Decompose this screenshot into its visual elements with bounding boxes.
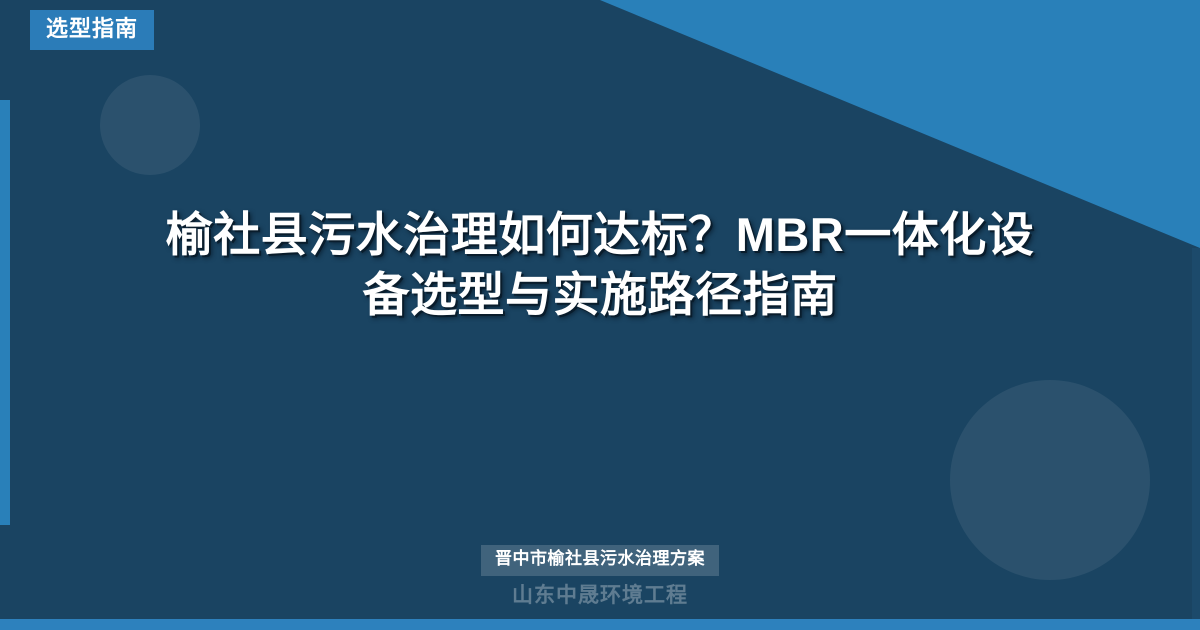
poster-canvas: 选型指南 榆社县污水治理如何达标？MBR一体化设备选型与实施路径指南 晋中市榆社… bbox=[0, 0, 1200, 630]
decorative-circle-top-left bbox=[100, 75, 200, 175]
page-title-line-2: 备选型与实施路径指南 bbox=[363, 268, 838, 321]
title-block: 榆社县污水治理如何达标？MBR一体化设备选型与实施路径指南 bbox=[0, 205, 1200, 325]
footer-block: 晋中市榆社县污水治理方案 山东中晟环境工程 bbox=[0, 545, 1200, 608]
bottom-edge-accent-bar bbox=[0, 619, 1200, 630]
category-badge: 选型指南 bbox=[30, 10, 154, 50]
page-title: 榆社县污水治理如何达标？MBR一体化设备选型与实施路径指南 bbox=[60, 205, 1140, 325]
company-name-watermark: 山东中晟环境工程 bbox=[0, 583, 1200, 608]
page-title-line-1: 榆社县污水治理如何达标？MBR一体化设 bbox=[166, 208, 1035, 261]
project-name-tag: 晋中市榆社县污水治理方案 bbox=[481, 545, 719, 575]
